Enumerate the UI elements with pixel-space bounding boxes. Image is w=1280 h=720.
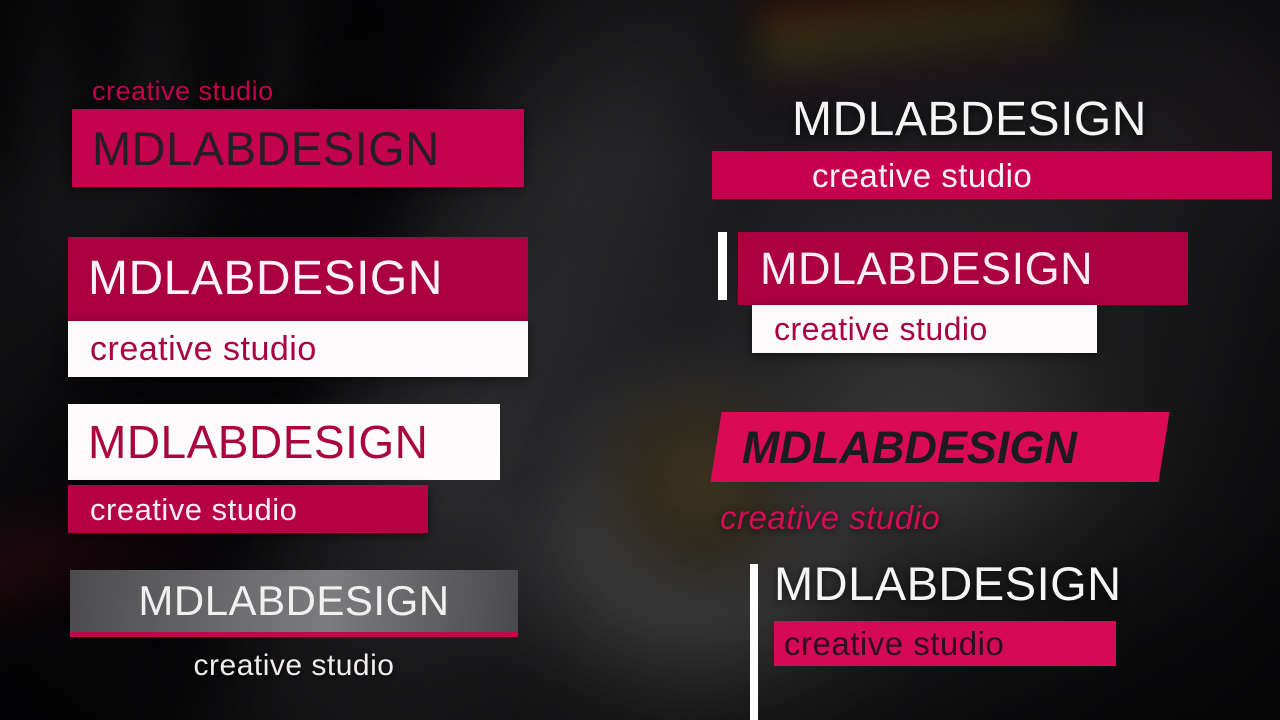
lower-third-6-title-bar: MDLABDESIGN	[738, 232, 1188, 305]
lower-third-7-subtitle: creative studio	[720, 501, 1164, 534]
lower-third-7-title-bar: MDLABDESIGN	[710, 412, 1169, 482]
lower-third-1-title: MDLABDESIGN	[92, 125, 440, 172]
lower-third-6-title: MDLABDESIGN	[760, 246, 1093, 291]
lower-third-6[interactable]: MDLABDESIGN creative studio	[718, 232, 1188, 353]
lower-third-5-subtitle: creative studio	[812, 159, 1032, 192]
lower-third-5-title: MDLABDESIGN	[792, 96, 1147, 144]
lower-third-8-subtitle-bar: creative studio	[774, 621, 1116, 666]
lower-third-4[interactable]: MDLABDESIGN creative studio	[70, 570, 518, 681]
lower-third-8[interactable]: MDLABDESIGN creative studio	[750, 560, 1122, 666]
lower-third-3-subtitle-bar: creative studio	[68, 485, 428, 533]
lower-third-6-subtitle: creative studio	[774, 313, 988, 345]
lower-third-2-title: MDLABDESIGN	[88, 255, 443, 303]
lower-third-3-subtitle: creative studio	[90, 494, 297, 525]
lower-third-7-title: MDLABDESIGN	[742, 425, 1077, 470]
lower-third-6-accent-bar	[718, 232, 727, 300]
lower-third-5-subtitle-bar: creative studio	[712, 151, 1272, 199]
lower-third-4-accent-rule	[70, 632, 518, 637]
lower-third-5[interactable]: MDLABDESIGN creative studio	[792, 96, 1147, 144]
lower-third-4-title-bar: MDLABDESIGN	[70, 570, 518, 632]
lower-third-8-subtitle: creative studio	[784, 627, 1004, 660]
lower-third-1[interactable]: creative studio MDLABDESIGN	[72, 78, 524, 187]
lower-third-4-subtitle: creative studio	[70, 651, 518, 681]
lower-third-4-title: MDLABDESIGN	[138, 580, 449, 622]
composition-stage: creative studio MDLABDESIGN MDLABDESIGN …	[0, 0, 1280, 720]
lower-third-2-title-bar: MDLABDESIGN	[68, 237, 528, 321]
lower-third-7[interactable]: MDLABDESIGN creative studio	[716, 412, 1164, 534]
lower-third-1-title-bar: MDLABDESIGN	[72, 109, 524, 187]
lower-third-8-accent-bar	[750, 564, 758, 720]
lower-third-3[interactable]: MDLABDESIGN creative studio	[68, 404, 500, 533]
lower-third-2-subtitle: creative studio	[90, 332, 317, 366]
lower-third-8-title: MDLABDESIGN	[774, 560, 1122, 607]
lower-third-1-subtitle: creative studio	[92, 78, 524, 105]
lower-third-2-subtitle-bar: creative studio	[68, 321, 528, 377]
lower-third-3-title: MDLABDESIGN	[88, 419, 428, 465]
lower-third-2[interactable]: MDLABDESIGN creative studio	[68, 237, 528, 377]
lower-third-6-subtitle-bar: creative studio	[752, 305, 1097, 353]
lower-third-3-title-bar: MDLABDESIGN	[68, 404, 500, 480]
